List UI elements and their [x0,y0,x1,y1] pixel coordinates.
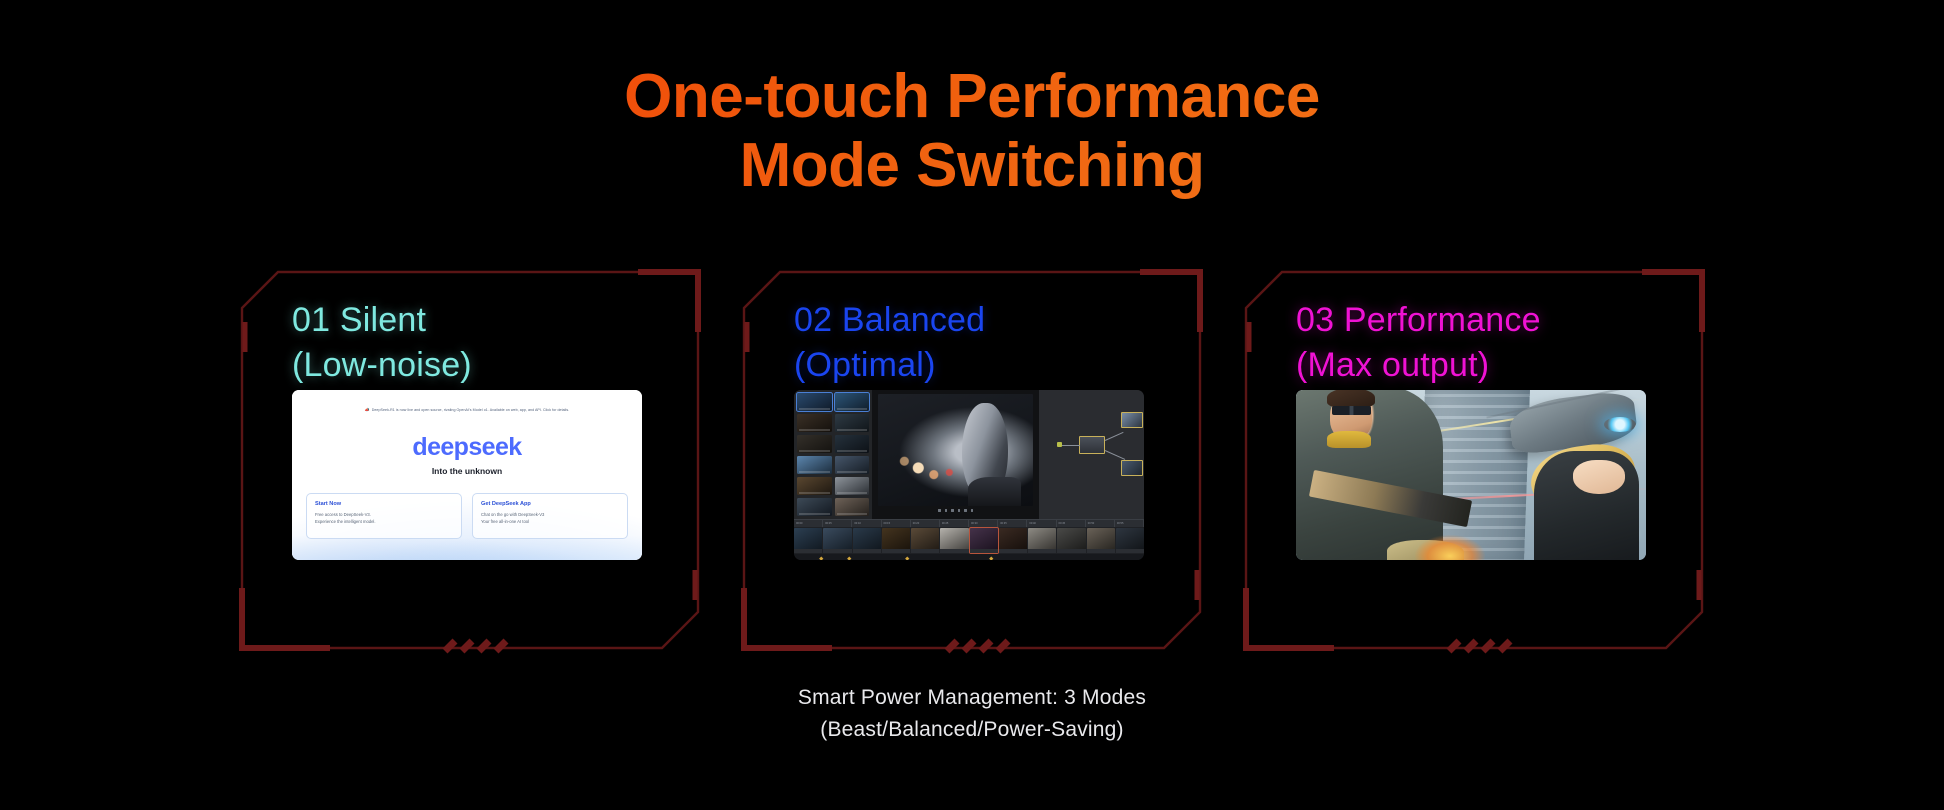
deepseek-tile-start-now[interactable]: Start Now Free access to DeepSeek-V3. Ex… [306,493,462,539]
caption-line-1: Smart Power Management: 3 Modes [0,682,1944,714]
mode-card-row: 01 Silent (Low-noise) 📣DeepSeek-R1 is no… [240,270,1704,650]
card-title-silent: 01 Silent (Low-noise) [292,298,472,388]
preview-monitor [878,394,1033,506]
footer-caption: Smart Power Management: 3 Modes (Beast/B… [0,682,1944,745]
timeline-video-track[interactable] [794,527,1144,554]
media-pool[interactable] [794,390,872,519]
viewer-pane[interactable] [872,390,1039,519]
tile-title: Get DeepSeek App [481,501,619,507]
deepseek-banner-text: DeepSeek-R1 is now live and open source,… [372,408,570,412]
card-title-performance: 03 Performance (Max output) [1296,298,1541,388]
mode-card-performance[interactable]: 03 Performance (Max output) [1244,270,1704,650]
tile-line-1: Free access to DeepSeek-V3. [315,511,453,518]
editor-upper-pane [794,390,1144,519]
tile-title: Start Now [315,501,453,507]
page-title: One-touch Performance Mode Switching [0,62,1944,201]
keyframe-marker[interactable] [847,556,851,560]
title-line-1: One-touch Performance [0,62,1944,131]
keyframe-marker[interactable] [989,556,993,560]
thumbnail-video-editor[interactable]: 00:0000:0500:1000:15 00:2000:2500:3000:3… [794,390,1144,560]
mode-card-balanced[interactable]: 02 Balanced (Optimal) [742,270,1202,650]
game-explosion [1415,535,1485,561]
title-line-2: Mode Switching [0,131,1944,200]
keyframe-marker[interactable] [819,556,823,560]
slide-root: One-touch Performance Mode Switching [0,0,1944,810]
node-branch-b[interactable] [1121,460,1143,476]
tile-line-2: Your free all-in-one AI tool [481,518,619,525]
caption-line-2: (Beast/Balanced/Power-Saving) [0,714,1944,746]
node-branch-a[interactable] [1121,412,1143,428]
preview-subject-shoulder [968,477,1021,506]
mode-card-silent[interactable]: 01 Silent (Low-noise) 📣DeepSeek-R1 is no… [240,270,700,650]
color-node-graph[interactable] [1039,390,1144,519]
megaphone-icon: 📣 [365,407,370,412]
thumbnail-game-artwork[interactable] [1296,390,1646,560]
deepseek-tile-get-app[interactable]: Get DeepSeek App Chat on the go with Dee… [472,493,628,539]
tile-line-2: Experience the intelligent model. [315,518,453,525]
card-title-balanced: 02 Balanced (Optimal) [794,298,985,388]
timeline-audio-track[interactable] [794,554,1144,560]
sunglasses-icon [1332,406,1371,415]
tile-line-1: Chat on the go with DeepSeek-V3 [481,511,619,518]
deepseek-logo: deepseek [292,433,642,462]
deepseek-tagline: Into the unknown [292,466,642,476]
deepseek-announcement-banner[interactable]: 📣DeepSeek-R1 is now live and open source… [292,407,642,412]
timeline-ruler[interactable]: 00:0000:0500:1000:15 00:2000:2500:3000:3… [794,519,1144,527]
thumbnail-deepseek[interactable]: 📣DeepSeek-R1 is now live and open source… [292,390,642,560]
transport-controls[interactable] [878,506,1033,515]
node-primary[interactable] [1079,436,1105,454]
game-soldier-scarf [1327,431,1370,449]
keyframe-marker[interactable] [905,556,909,560]
game-heroine-face [1573,460,1626,494]
deepseek-tile-row: Start Now Free access to DeepSeek-V3. Ex… [306,493,628,539]
